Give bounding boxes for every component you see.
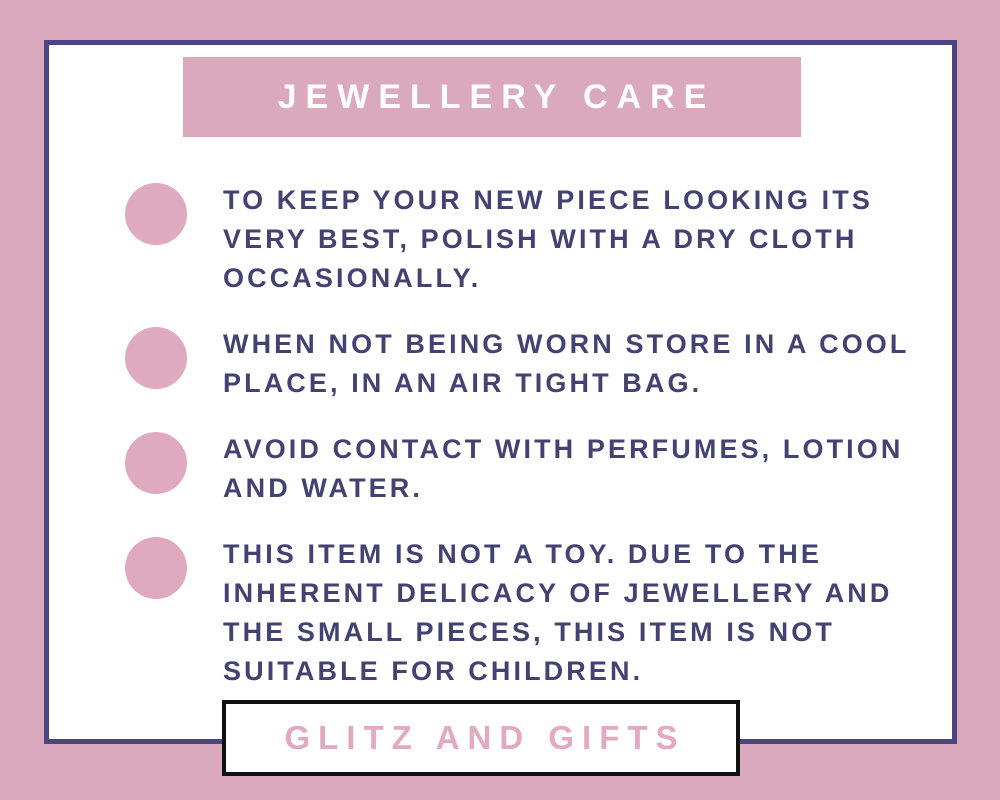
brand-name: GLITZ AND GIFTS [276,719,685,757]
care-instruction-text: THIS ITEM IS NOT A TOY. DUE TO THE INHER… [223,535,943,691]
bullet-dot-icon [125,537,187,599]
brand-logo-box: GLITZ AND GIFTS [222,700,740,776]
list-item: THIS ITEM IS NOT A TOY. DUE TO THE INHER… [125,535,955,691]
list-item: WHEN NOT BEING WORN STORE IN A COOL PLAC… [125,325,955,403]
list-item: AVOID CONTACT WITH PERFUMES, LOTION AND … [125,430,955,508]
page-title: JEWELLERY CARE [269,78,716,117]
care-instruction-text: AVOID CONTACT WITH PERFUMES, LOTION AND … [223,430,943,508]
bullet-dot-icon [125,327,187,389]
care-card: JEWELLERY CARE TO KEEP YOUR NEW PIECE LO… [44,40,957,744]
bullet-dot-icon [125,432,187,494]
care-instruction-list: TO KEEP YOUR NEW PIECE LOOKING ITS VERY … [125,181,955,691]
title-band: JEWELLERY CARE [183,57,801,137]
jewellery-care-card-page: { "colors": { "background_pink": "#dba9b… [0,0,1000,800]
list-item: TO KEEP YOUR NEW PIECE LOOKING ITS VERY … [125,181,955,298]
care-instruction-text: TO KEEP YOUR NEW PIECE LOOKING ITS VERY … [223,181,943,298]
care-instruction-text: WHEN NOT BEING WORN STORE IN A COOL PLAC… [223,325,943,403]
bullet-dot-icon [125,183,187,245]
